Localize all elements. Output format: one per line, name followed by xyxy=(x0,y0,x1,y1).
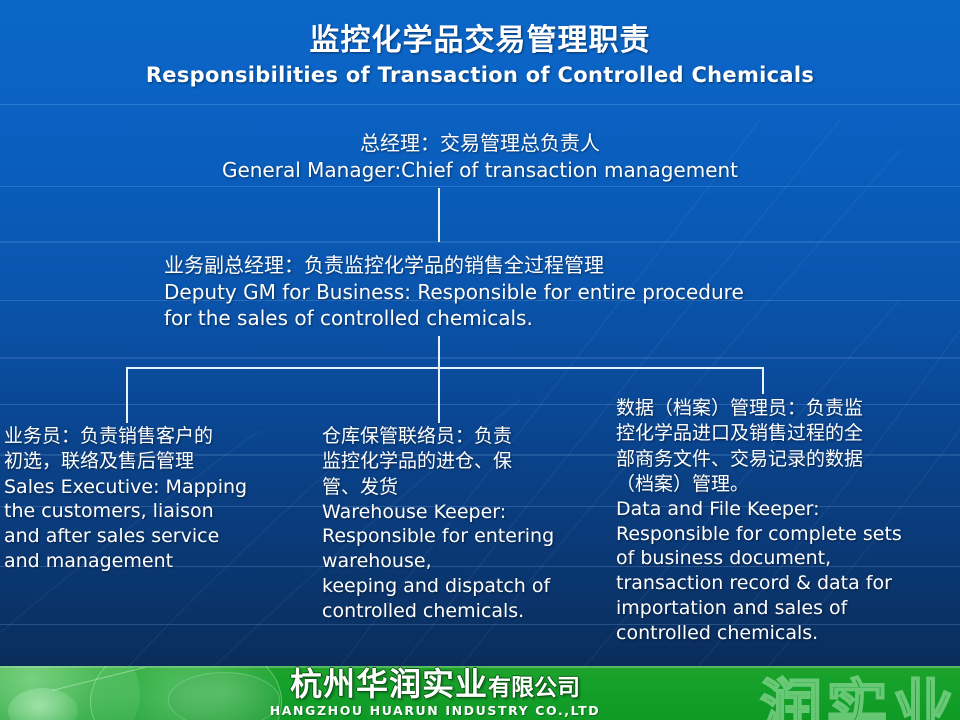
logo-english: HANGZHOU HUARUN INDUSTRY CO.,LTD xyxy=(200,703,670,718)
node-data-file-keeper-en: Data and File Keeper: Responsible for co… xyxy=(616,497,956,645)
connector-bus-to-data xyxy=(762,367,764,394)
node-general-manager-cn: 总经理：交易管理总负责人 xyxy=(0,130,960,157)
node-sales-executive-en: Sales Executive: Mapping the customers, … xyxy=(4,475,304,574)
node-sales-executive: 业务员：负责销售客户的 初选，联络及售后管理 Sales Executive: … xyxy=(4,424,304,573)
connector-bus-to-warehouse xyxy=(438,367,440,423)
node-general-manager-en: General Manager:Chief of transaction man… xyxy=(0,157,960,183)
title-chinese: 监控化学品交易管理职责 xyxy=(0,22,960,60)
connector-bus-bar xyxy=(126,367,764,369)
slide-canvas: 监控化学品交易管理职责 Responsibilities of Transact… xyxy=(0,0,960,720)
decorative-stem xyxy=(52,667,145,691)
background-band xyxy=(0,104,960,105)
logo-chinese: 杭州华润实业有限公司 xyxy=(200,668,670,702)
node-general-manager: 总经理：交易管理总负责人 General Manager:Chief of tr… xyxy=(0,130,960,183)
node-sales-executive-cn: 业务员：负责销售客户的 初选，联络及售后管理 xyxy=(4,424,304,475)
title-english: Responsibilities of Transaction of Contr… xyxy=(0,62,960,89)
node-data-file-keeper-cn: 数据（档案）管理员：负责监 控化学品进口及销售过程的全 部商务文件、交易记录的数… xyxy=(616,396,956,497)
node-deputy-gm-en: Deputy GM for Business: Responsible for … xyxy=(164,279,864,331)
decorative-bubble xyxy=(8,688,78,720)
company-logo: 杭州华润实业有限公司 HANGZHOU HUARUN INDUSTRY CO.,… xyxy=(200,668,670,718)
node-data-file-keeper: 数据（档案）管理员：负责监 控化学品进口及销售过程的全 部商务文件、交易记录的数… xyxy=(616,396,956,645)
background-band xyxy=(0,357,960,359)
node-warehouse-keeper-cn: 仓库保管联络员：负责 监控化学品的进仓、保 管、发货 xyxy=(322,424,612,500)
connector-gm-to-deputy xyxy=(438,188,440,242)
connector-deputy-to-bus xyxy=(438,336,440,368)
footer-logo-bar: 润实业 杭州华润实业有限公司 HANGZHOU HUARUN INDUSTRY … xyxy=(0,666,960,720)
node-deputy-gm: 业务副总经理：负责监控化学品的销售全过程管理 Deputy GM for Bus… xyxy=(164,252,864,331)
page-title: 监控化学品交易管理职责 Responsibilities of Transact… xyxy=(0,22,960,89)
background-band xyxy=(0,186,960,187)
node-warehouse-keeper: 仓库保管联络员：负责 监控化学品的进仓、保 管、发货 Warehouse Kee… xyxy=(322,424,612,623)
connector-bus-to-sales xyxy=(126,367,128,423)
node-warehouse-keeper-en: Warehouse Keeper: Responsible for enteri… xyxy=(322,500,612,623)
logo-chinese-main: 杭州华润实业 xyxy=(290,666,488,703)
node-deputy-gm-cn: 业务副总经理：负责监控化学品的销售全过程管理 xyxy=(164,252,864,279)
background-band xyxy=(0,241,960,243)
logo-chinese-suffix: 有限公司 xyxy=(488,675,580,701)
logo-watermark: 润实业 xyxy=(760,666,958,720)
